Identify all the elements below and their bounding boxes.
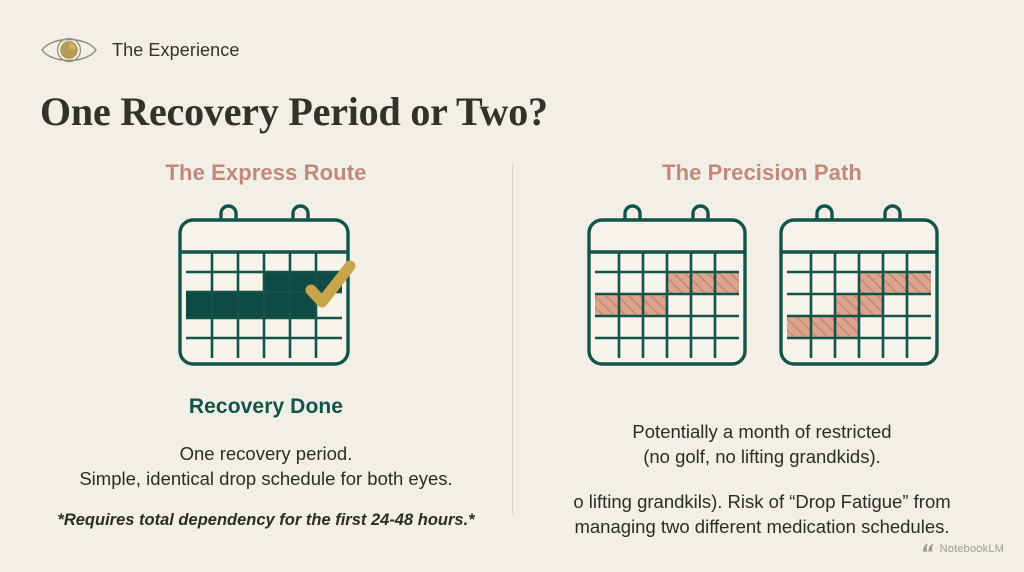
right-body-line-3: o lifting grandkils). Risk of “Drop Fati… xyxy=(516,489,1008,514)
right-body-block-b: o lifting grandkils). Risk of “Drop Fati… xyxy=(516,489,1008,539)
right-body-line-1: Potentially a month of restricted xyxy=(516,419,1008,444)
notebooklm-watermark: NotebookLM xyxy=(922,540,1004,558)
both-eyes-calendar xyxy=(164,200,368,375)
left-body-line-1: One recovery period. xyxy=(20,441,512,466)
page-title: One Recovery Period or Two? xyxy=(40,88,548,135)
right-body-line-2: (no golf, no lifting grandkids). xyxy=(516,444,1008,469)
right-body-block-a: Potentially a month of restricted (no go… xyxy=(516,419,1008,469)
calendar-group-left xyxy=(20,200,512,375)
left-body-line-2: Simple, identical drop schedule for both… xyxy=(20,466,512,491)
column-express-route: The Express Route xyxy=(20,160,512,530)
second-eye-calendar xyxy=(769,200,947,375)
column-divider xyxy=(512,163,513,515)
right-body-line-4: managing two different medication schedu… xyxy=(516,514,1008,539)
left-note: *Requires total dependency for the first… xyxy=(20,511,512,530)
recovery-done-label: Recovery Done xyxy=(20,395,512,419)
eyebrow-label: The Experience xyxy=(112,40,239,61)
column-heading-precision: The Precision Path xyxy=(516,160,1008,186)
eye-icon xyxy=(40,33,98,67)
calendar-group-right xyxy=(516,200,1008,375)
column-heading-express: The Express Route xyxy=(20,160,512,186)
watermark-label: NotebookLM xyxy=(940,543,1004,555)
left-body-block: One recovery period. Simple, identical d… xyxy=(20,441,512,530)
first-eye-calendar xyxy=(577,200,755,375)
header-eyebrow: The Experience xyxy=(40,33,239,67)
notebooklm-icon xyxy=(922,540,935,558)
column-precision-path: The Precision Path xyxy=(516,160,1008,539)
